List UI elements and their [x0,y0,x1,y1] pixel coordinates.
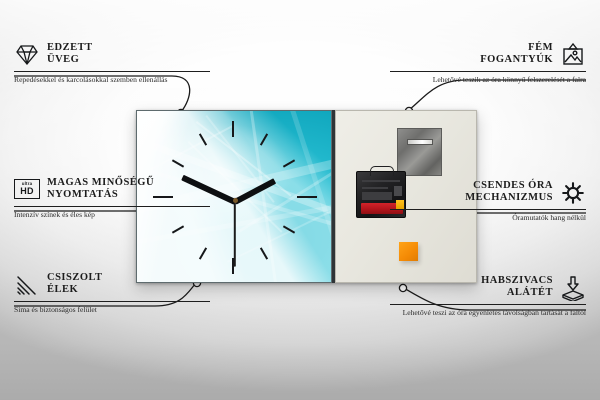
picture-hanger-icon [560,42,586,68]
divider [390,71,586,72]
feature-description: Repedésekkel és karcolásokkal szemben el… [14,75,210,85]
feature-description: Lehetővé teszik az óra könnyű felszerelé… [390,75,586,85]
foam-pad-icon [560,275,586,301]
hour-hand [234,178,277,204]
feature-description: Óramutatók hang nélkül [390,213,586,223]
feature-title: FÉMFOGANTYÚK [480,42,553,66]
feature-title: MAGAS MINŐSÉGŰNYOMTATÁS [47,177,154,201]
feature-head: ultra HD MAGAS MINŐSÉGŰNYOMTATÁS [14,177,210,203]
foam-pad-sample [399,242,418,261]
diamond-icon [14,42,40,68]
feature-head: CSENDES ÓRAMECHANIZMUS [390,180,586,206]
ultra-hd-icon: ultra HD [14,177,40,203]
feature-title: CSISZOLTÉLEK [47,272,103,296]
feature-description: Sima és biztonságos felület [14,305,210,315]
feature-foam-pad: HABSZIVACSALÁTÉT Lehetővé teszi az óra e… [390,275,586,318]
feature-polished-edges: CSISZOLTÉLEK Sima és biztonságos felület [14,272,210,315]
divider [14,206,210,207]
hanger-slot [407,139,433,145]
clock-hub [233,198,238,203]
mechanism-handle [370,166,394,176]
feature-head: HABSZIVACSALÁTÉT [390,275,586,301]
feature-high-quality-print: ultra HD MAGAS MINŐSÉGŰNYOMTATÁS Intenzí… [14,177,210,220]
feature-metal-handles: FÉMFOGANTYÚK Lehetővé teszik az óra könn… [390,42,586,85]
feature-head: CSISZOLTÉLEK [14,272,210,298]
infographic-canvas: EDZETTÜVEG Repedésekkel és karcolásokkal… [0,0,600,400]
feature-title: EDZETTÜVEG [47,42,93,66]
feature-head: FÉMFOGANTYÚK [390,42,586,68]
feature-title: HABSZIVACSALÁTÉT [481,275,553,299]
feature-description: Lehetővé teszi az óra egyenletes távolsá… [390,308,586,318]
divider [390,209,586,210]
metal-hanger-plate [397,128,442,176]
divider [14,71,210,72]
second-hand [234,201,236,267]
feature-head: EDZETTÜVEG [14,42,210,68]
gear-icon [560,180,586,206]
divider [14,301,210,302]
feature-description: Intenzív színek és éles kép [14,210,210,220]
hd-label: HD [20,187,33,196]
feature-tempered-glass: EDZETTÜVEG Repedésekkel és karcolásokkal… [14,42,210,85]
polished-edge-icon [14,272,40,298]
feature-title: CSENDES ÓRAMECHANIZMUS [465,180,553,204]
divider [390,304,586,305]
feature-silent-mechanism: CSENDES ÓRAMECHANIZMUS Óramutatók hang n… [390,180,586,223]
